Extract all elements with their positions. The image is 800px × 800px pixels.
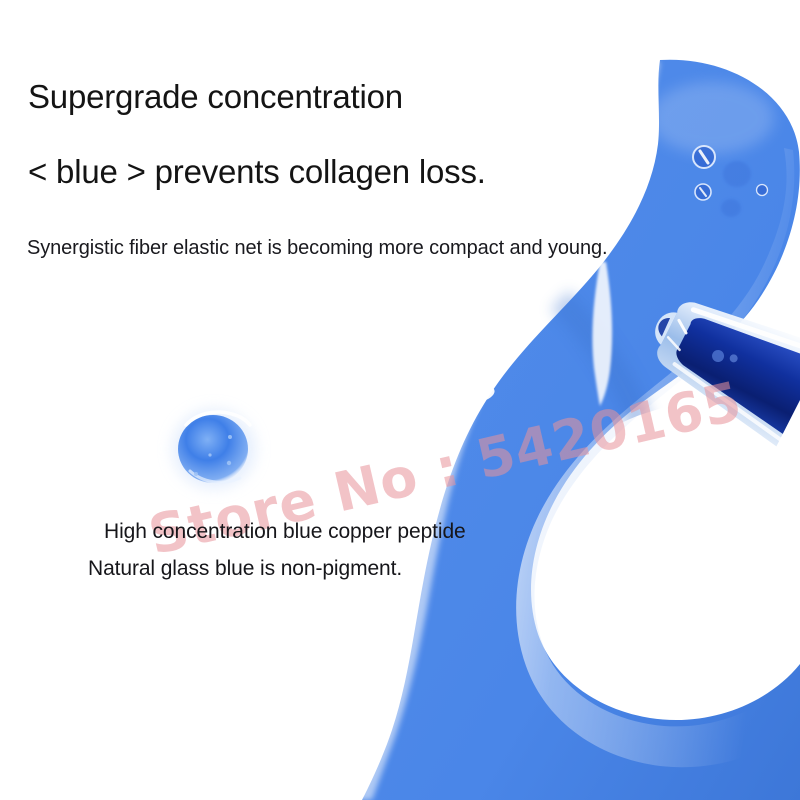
body-line-2: Natural glass blue is non-pigment. (88, 558, 402, 579)
headline-line-1: Supergrade concentration (28, 80, 403, 113)
subheadline-text: Synergistic fiber elastic net is becomin… (27, 238, 607, 258)
body-line-1: High concentration blue copper peptide (104, 521, 466, 542)
headline-line-2: < blue > prevents collagen loss. (28, 155, 486, 188)
promo-banner: Store No : 5420165 Supergrade concentrat… (0, 0, 800, 800)
text-layer: Supergrade concentration < blue > preven… (0, 0, 800, 800)
